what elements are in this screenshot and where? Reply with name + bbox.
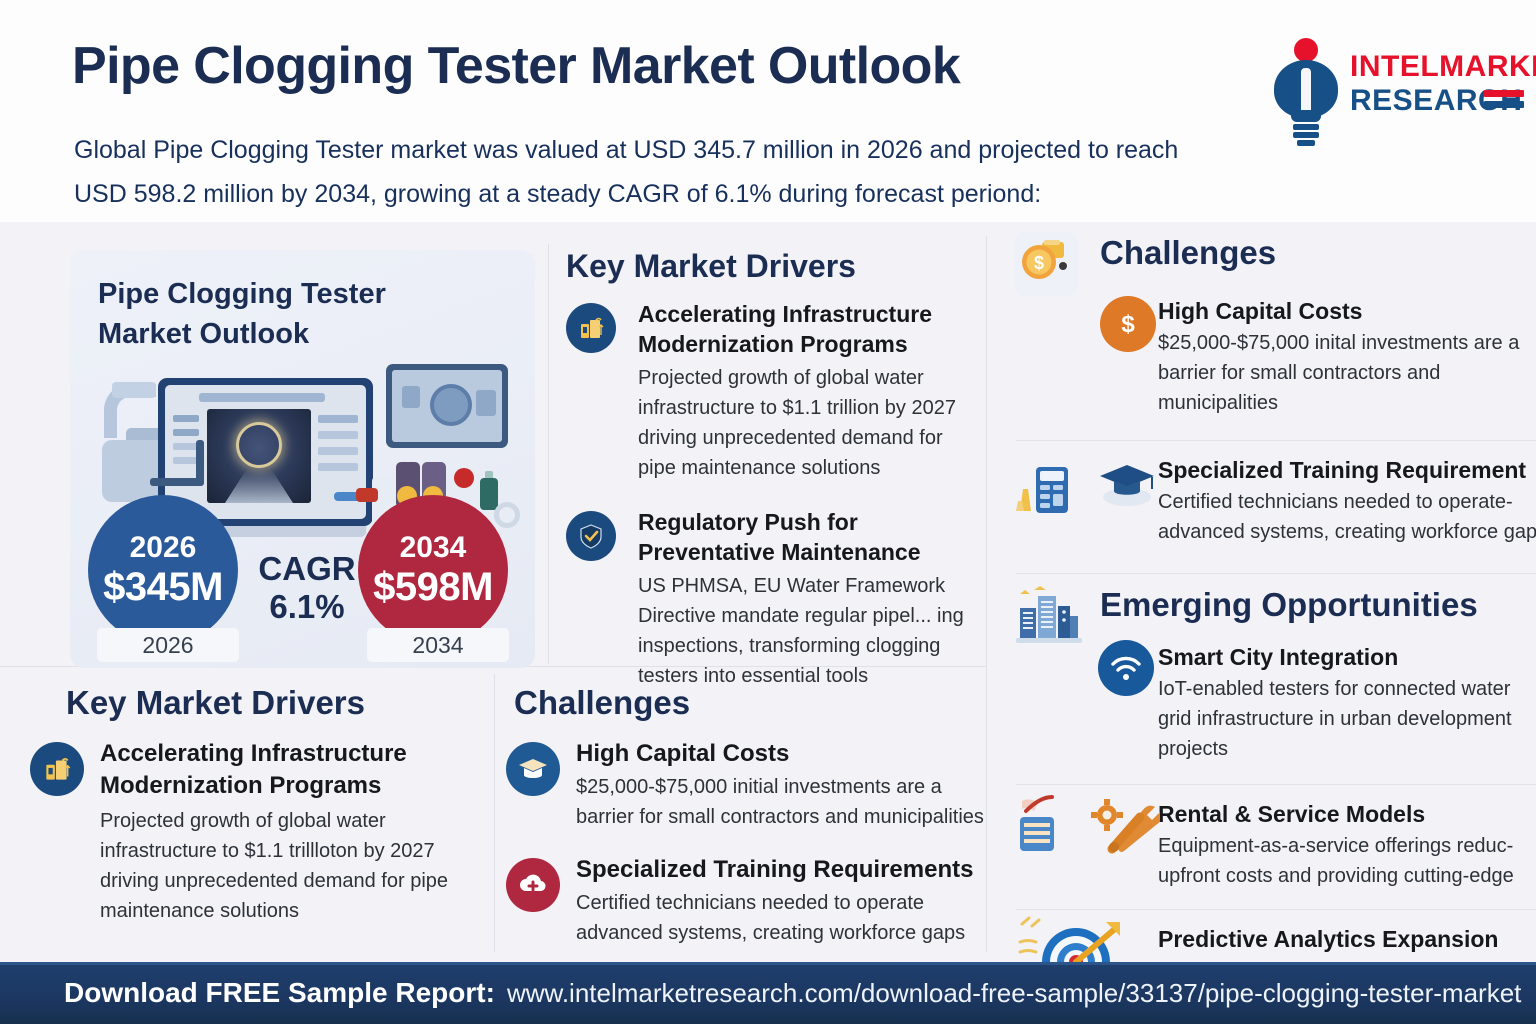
wifi-icon	[1098, 640, 1154, 696]
section-heading-drivers: Key Market Drivers	[566, 248, 966, 285]
dollar-coin-icon: $	[1100, 296, 1156, 352]
divider-line	[1016, 573, 1536, 574]
bubble-value-2026: $345M	[103, 565, 223, 609]
challenges-section-bottom: Challenges High Capital Costs $25,000-$7…	[506, 684, 986, 966]
shield-check-icon	[566, 511, 616, 561]
header: Pipe Clogging Tester Market Outlook Glob…	[0, 0, 1536, 222]
city-buildings-icon	[1012, 580, 1086, 650]
driver-body: US PHMSA, EU Water Framework Directive m…	[638, 571, 966, 691]
clipboard-icon	[1012, 791, 1084, 863]
divider-vertical-1	[548, 244, 549, 664]
opportunity-item: Rental & Service Models Equipment-as-a-s…	[1006, 799, 1536, 891]
graduation-cap-icon	[1096, 457, 1160, 513]
logo-bars-icon	[1484, 90, 1524, 108]
svg-text:$: $	[1121, 311, 1135, 338]
divider-line	[1016, 784, 1536, 785]
section-heading-opportunities: Emerging Opportunities	[1100, 586, 1478, 624]
opportunity-title: Predictive Analytics Expansion	[1158, 924, 1536, 954]
challenge-item: $ High Capital Costs $25,000-$75,000 ini…	[1006, 296, 1536, 418]
page-subtitle: Global Pipe Clogging Tester market was v…	[74, 128, 1234, 216]
market-outlook-chart: Pipe Clogging Tester Market Outlook	[70, 250, 535, 668]
challenge-title: High Capital Costs	[576, 738, 986, 770]
data-bubble-2034: 2034 $598M	[358, 495, 508, 645]
data-bubble-2026: 2026 $345M	[88, 495, 238, 645]
money-bag-icon: $	[1014, 232, 1078, 296]
cloud-plus-icon	[506, 858, 560, 912]
driver-title: Accelerating Infrastructure Modernizatio…	[638, 299, 966, 359]
graduation-cap-icon	[506, 742, 560, 796]
challenge-item: Specialized Training Requirements Certif…	[506, 854, 986, 948]
opportunity-title: Rental & Service Models	[1158, 799, 1536, 829]
footer-cta-bar[interactable]: Download FREE Sample Report: www.intelma…	[0, 962, 1536, 1024]
divider-line	[1016, 909, 1536, 910]
driver-item: Accelerating Infrastructure Modernizatio…	[566, 299, 966, 483]
challenge-title: High Capital Costs	[1158, 296, 1536, 326]
divider-vertical-3	[494, 674, 495, 952]
factory-icon	[30, 742, 84, 796]
factory-icon	[566, 303, 616, 353]
challenge-body: $25,000-$75,000 initial investments are …	[576, 772, 1001, 832]
footer-cta-label: Download FREE Sample Report:	[64, 977, 495, 1009]
challenge-body: $25,000-$75,000 inital investments are a…	[1158, 328, 1536, 418]
driver-body: Projected growth of global water infrast…	[100, 806, 490, 926]
chart-title: Pipe Clogging Tester Market Outlook	[98, 274, 428, 354]
divider-vertical-2	[986, 236, 987, 952]
driver-item: Regulatory Push for Preventative Mainten…	[566, 507, 966, 691]
opportunities-heading-row: Emerging Opportunities	[1006, 588, 1536, 646]
driver-title: Accelerating Infrastructure Modernizatio…	[100, 738, 490, 802]
challenges-heading-row: $ Challenges	[1006, 234, 1536, 290]
footer-accent-line	[0, 962, 1536, 965]
bubble-year-2026: 2026	[130, 531, 197, 565]
body-area: Pipe Clogging Tester Market Outlook	[0, 222, 1536, 962]
lightbulb-icon	[1270, 38, 1342, 142]
opportunity-body: Equipment-as-a-service offerings reduc- …	[1158, 831, 1536, 891]
key-market-drivers-section-top: Key Market Drivers Accelerating Infrastr…	[566, 248, 966, 705]
opportunity-body: IoT-enabled testers for connected water …	[1158, 674, 1536, 764]
opportunity-title: Smart City Integration	[1158, 642, 1536, 672]
right-column: $ Challenges $ High Capital Costs $25,00…	[1006, 234, 1536, 1024]
cagr-annotation: CAGR 6.1%	[246, 550, 368, 626]
svg-text:$: $	[1034, 253, 1044, 273]
bubble-year-2034: 2034	[400, 531, 467, 565]
driver-body: Projected growth of global water infrast…	[638, 363, 966, 483]
bubble-value-2034: $598M	[373, 565, 493, 609]
axis-tick-2026: 2026	[97, 628, 239, 662]
divider-line	[1016, 440, 1536, 441]
challenge-title: Specialized Training Requirement	[1158, 455, 1536, 485]
opportunity-item: Smart City Integration IoT-enabled teste…	[1006, 642, 1536, 764]
footer-url[interactable]: www.intelmarketresearch.com/download-fre…	[507, 978, 1521, 1009]
wrench-gear-icon	[1090, 795, 1160, 859]
challenge-body: Certified technicians needed to operate-…	[1158, 487, 1536, 547]
cagr-label: CAGR	[246, 550, 368, 588]
key-market-drivers-section-bottom: Key Market Drivers Accelerating Infrastr…	[30, 684, 490, 944]
axis-tick-2034: 2034	[367, 628, 509, 662]
section-heading-challenges-bottom: Challenges	[514, 684, 986, 722]
cagr-value: 6.1%	[246, 588, 368, 626]
challenge-item: Specialized Training Requirement Certifi…	[1006, 455, 1536, 547]
challenge-title: Specialized Training Requirements	[576, 854, 986, 886]
page-title: Pipe Clogging Tester Market Outlook	[72, 36, 960, 96]
driver-title: Regulatory Push for Preventative Mainten…	[638, 507, 966, 567]
driver-item: Accelerating Infrastructure Modernizatio…	[30, 738, 490, 926]
calculator-icon	[1014, 451, 1078, 523]
section-heading-challenges: Challenges	[1100, 234, 1276, 272]
challenge-body: Certified technicians needed to operate …	[576, 888, 1001, 948]
brand-logo[interactable]: INTELMARKET RESEARCH	[1258, 34, 1520, 144]
infographic-page: Pipe Clogging Tester Market Outlook Glob…	[0, 0, 1536, 1024]
section-heading-drivers-bottom: Key Market Drivers	[66, 684, 490, 722]
logo-line-1: INTELMARKET	[1350, 50, 1536, 84]
challenge-item: High Capital Costs $25,000-$75,000 initi…	[506, 738, 986, 832]
